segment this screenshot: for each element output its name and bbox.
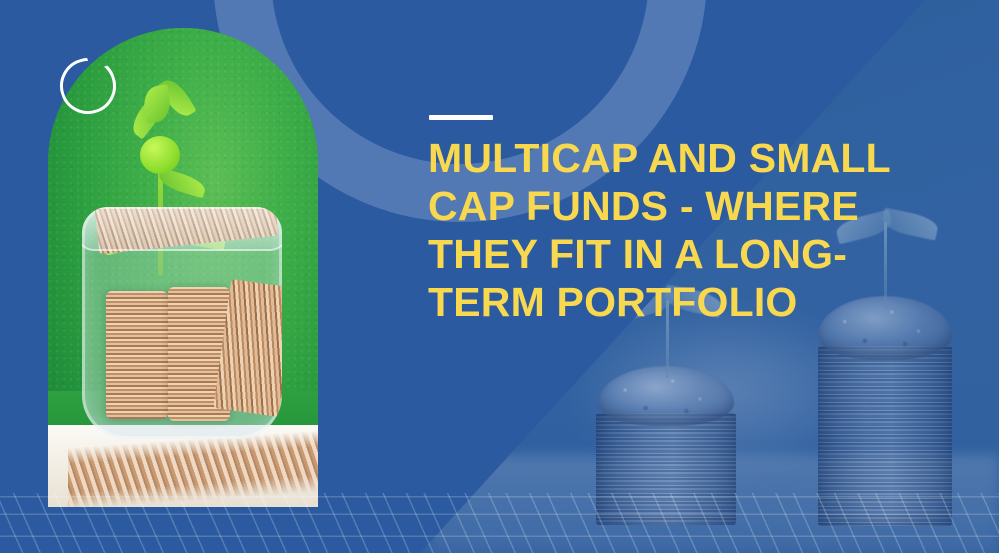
- article-hero-banner: MULTICAP AND SMALL CAP FUNDS - WHERE THE…: [0, 0, 999, 553]
- glass-coin-jar: [82, 207, 282, 439]
- page-title: MULTICAP AND SMALL CAP FUNDS - WHERE THE…: [428, 134, 958, 326]
- plant-bud: [140, 136, 180, 174]
- title-rule: [429, 115, 493, 120]
- coin-stack-small: [596, 413, 736, 525]
- coin-stack-large: [818, 346, 952, 526]
- jar-rim: [82, 207, 282, 251]
- coin-column-left: [106, 291, 168, 419]
